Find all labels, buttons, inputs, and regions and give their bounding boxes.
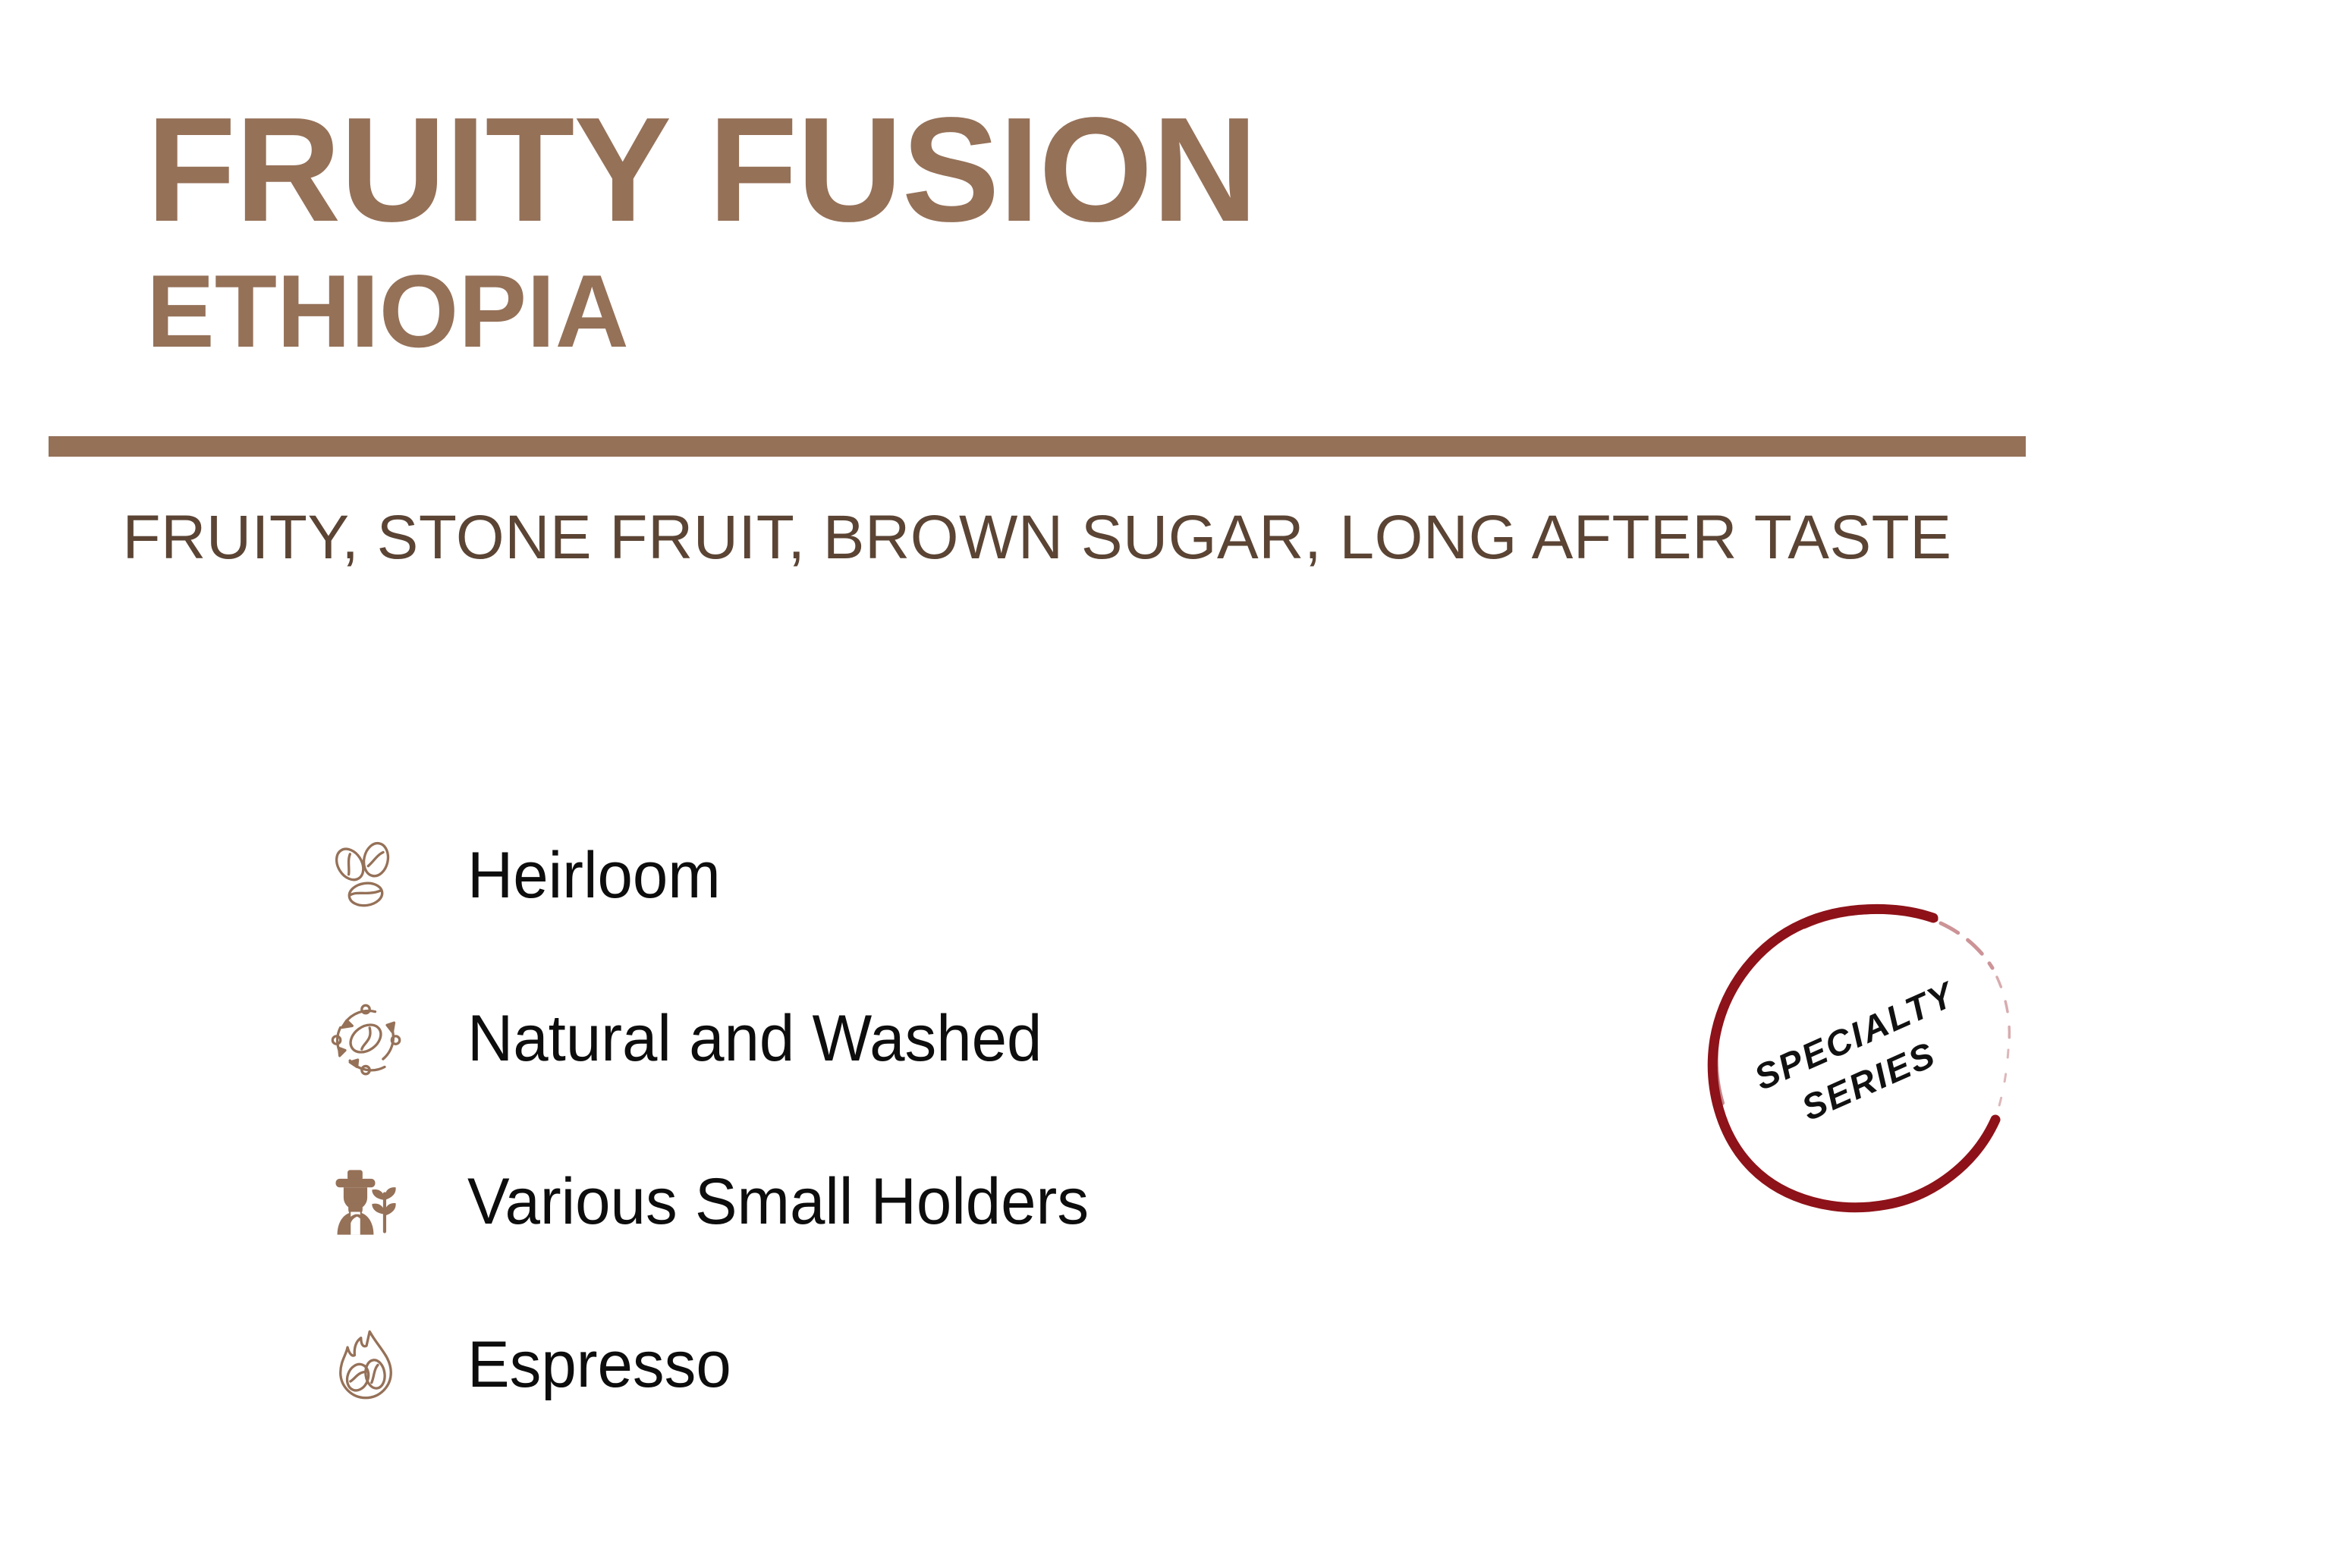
attribute-row: Heirloom bbox=[326, 793, 1464, 957]
attribute-row: Espresso bbox=[326, 1283, 1464, 1446]
flame-roast-bean-icon bbox=[326, 1325, 405, 1404]
attribute-row: Various Small Holders bbox=[326, 1120, 1464, 1283]
bean-process-cycle-icon bbox=[326, 999, 405, 1078]
attribute-label: Various Small Holders bbox=[467, 1169, 1089, 1234]
specialty-series-stamp: SPECIALTY SERIES bbox=[1706, 904, 2023, 1211]
attribute-list: Heirloom bbox=[326, 793, 1464, 1446]
attribute-row: Natural and Washed bbox=[326, 957, 1464, 1120]
tasting-notes: FRUITY, STONE FRUIT, BROWN SUGAR, LONG A… bbox=[49, 507, 2026, 569]
coffee-bag-label: FRUITY FUSION ETHIOPIA FRUITY, STONE FRU… bbox=[0, 0, 2352, 1568]
farmer-with-plant-icon bbox=[326, 1162, 405, 1241]
product-origin: ETHIOPIA bbox=[146, 259, 1262, 363]
attribute-label: Natural and Washed bbox=[467, 1006, 1042, 1071]
attribute-label: Espresso bbox=[467, 1332, 731, 1397]
divider-rule bbox=[49, 436, 2026, 457]
attribute-label: Heirloom bbox=[467, 843, 721, 908]
header-block: FRUITY FUSION ETHIOPIA bbox=[146, 97, 1274, 363]
coffee-beans-icon bbox=[326, 836, 405, 915]
product-title: FRUITY FUSION bbox=[146, 97, 1257, 243]
